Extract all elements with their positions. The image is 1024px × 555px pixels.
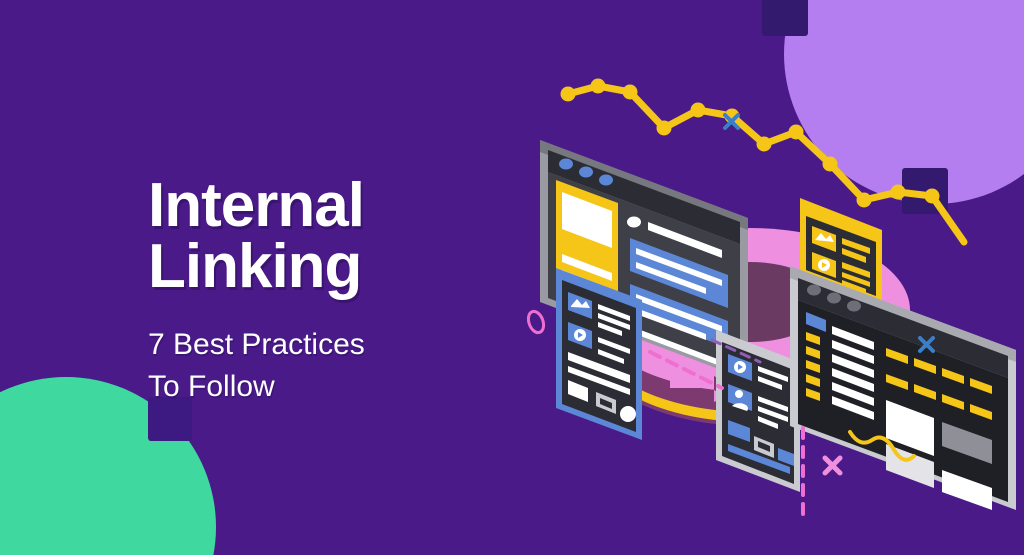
page-title: Internal Linking [148, 175, 528, 298]
circle-notch [762, 0, 808, 36]
ellipse-outline-pink [526, 309, 547, 334]
headline-line-1: Internal [148, 171, 364, 240]
illustration [500, 40, 1024, 540]
page-subtitle: 7 Best Practices To Follow [148, 324, 528, 409]
headline-line-2: Linking [148, 236, 528, 297]
headline-block: Internal Linking 7 Best Practices To Fol… [148, 175, 528, 409]
subhead-line-1: 7 Best Practices [148, 328, 365, 361]
x-marker-pink-lower [825, 458, 840, 473]
subhead-line-2: To Follow [148, 366, 528, 409]
banner-graphic: Internal Linking 7 Best Practices To Fol… [0, 0, 1024, 555]
